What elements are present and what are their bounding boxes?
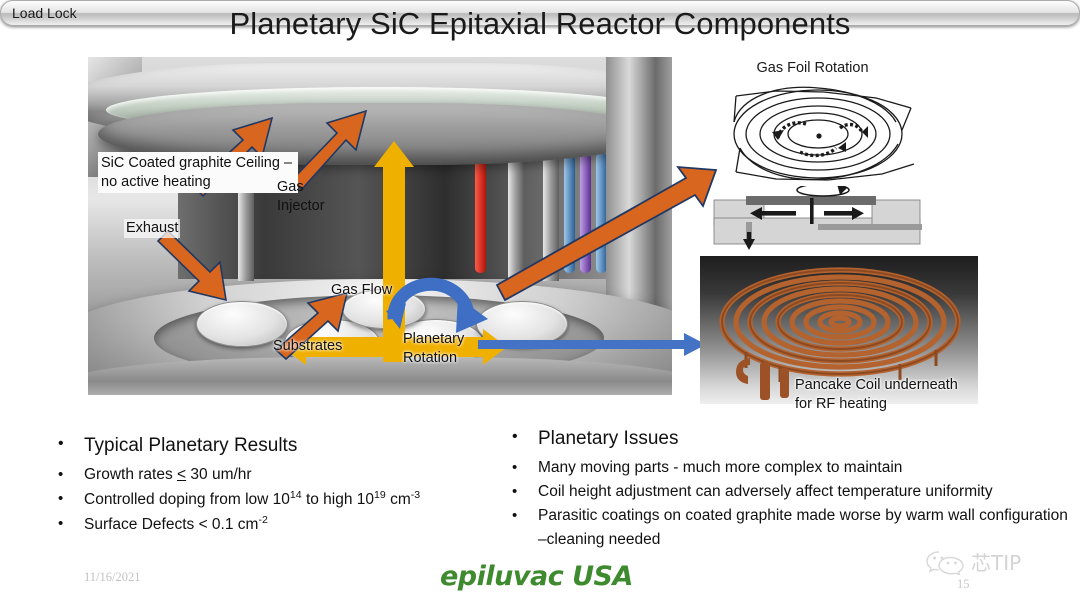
photo-cable-blue xyxy=(564,153,575,273)
bullet-item-text: Surface Defects < 0.1 cm-2 xyxy=(84,512,268,537)
bullet-marker: • xyxy=(58,487,84,510)
gas-foil-cross-section-diagram xyxy=(706,186,942,252)
bullet-heading-row: • Planetary Issues xyxy=(512,425,1072,453)
superscript: -3 xyxy=(411,489,420,501)
label-sic-coated-ceiling: SiC Coated graphite Ceiling – no active … xyxy=(98,152,298,193)
bullet-item-text: Parasitic coatings on coated graphite ma… xyxy=(538,504,1072,552)
label-gas-flow: Gas Flow xyxy=(331,281,392,300)
bullet-item-text: Controlled doping from low 1014 to high … xyxy=(84,487,420,512)
bullet-item-parasitic-coatings: • Parasitic coatings on coated graphite … xyxy=(512,504,1072,552)
pancake-coil-caption: Pancake Coil underneath for RF heating xyxy=(795,376,975,414)
planetary-rotation-arrow xyxy=(384,267,494,337)
superscript: 14 xyxy=(290,489,302,501)
bullet-marker: • xyxy=(58,432,84,456)
bullet-marker: • xyxy=(512,504,538,527)
photo-cable-red xyxy=(475,153,486,273)
less-than-or-equal-glyph: < xyxy=(177,466,186,483)
photo-cable-purple xyxy=(580,153,591,273)
epiluvac-logo: epiluvac USA xyxy=(440,561,633,592)
bullet-marker: • xyxy=(58,512,84,535)
bullet-item-defects: • Surface Defects < 0.1 cm-2 xyxy=(58,512,498,537)
bullet-marker: • xyxy=(512,480,538,503)
bullet-item-coil-height: • Coil height adjustment can adversely a… xyxy=(512,480,1072,504)
gas-foil-rotation-diagram xyxy=(706,78,936,186)
bullet-item-text: Many moving parts - much more complex to… xyxy=(538,456,902,480)
wechat-icon xyxy=(925,549,965,575)
page-number: 15 xyxy=(957,577,970,592)
bullet-heading-text: Typical Planetary Results xyxy=(84,432,297,460)
label-exhaust: Exhaust xyxy=(124,219,180,238)
bullet-item-moving-parts: • Many moving parts - much more complex … xyxy=(512,456,1072,480)
bullet-list-planetary-issues: • Planetary Issues • Many moving parts -… xyxy=(512,425,1072,552)
label-planetary-rotation: Planetary Rotation xyxy=(403,330,477,367)
label-substrates: Substrates xyxy=(273,337,342,356)
photo-base-rim xyxy=(88,357,672,395)
bullet-item-text: Growth rates < 30 um/hr xyxy=(84,463,252,487)
watermark-text: 芯TIP xyxy=(971,547,1021,576)
gas-foil-rotation-title: Gas Foil Rotation xyxy=(700,60,925,76)
bullet-item-text: Coil height adjustment can adversely aff… xyxy=(538,480,993,504)
watermark: 芯TIP xyxy=(925,547,1021,576)
superscript: 19 xyxy=(374,489,386,501)
photo-pillar xyxy=(543,149,559,281)
photo-pillar xyxy=(508,149,524,281)
bullet-item-growth-rate: • Growth rates < 30 um/hr xyxy=(58,463,498,487)
bullet-heading-text: Planetary Issues xyxy=(538,425,678,453)
bullet-marker: • xyxy=(58,463,84,486)
slide-date: 11/16/2021 xyxy=(84,570,140,585)
bullet-marker: • xyxy=(512,456,538,479)
page-title: Planetary SiC Epitaxial Reactor Componen… xyxy=(0,6,1080,42)
label-gas-injector: Gas Injector xyxy=(277,178,347,215)
superscript: -2 xyxy=(258,514,267,526)
bullet-marker: • xyxy=(512,425,538,449)
slide-canvas: Planetary SiC Epitaxial Reactor Componen… xyxy=(0,0,1080,608)
bullet-item-doping: • Controlled doping from low 1014 to hig… xyxy=(58,487,498,512)
bullet-heading-row: • Typical Planetary Results xyxy=(58,432,498,460)
bullet-list-typical-results: • Typical Planetary Results • Growth rat… xyxy=(58,432,498,537)
